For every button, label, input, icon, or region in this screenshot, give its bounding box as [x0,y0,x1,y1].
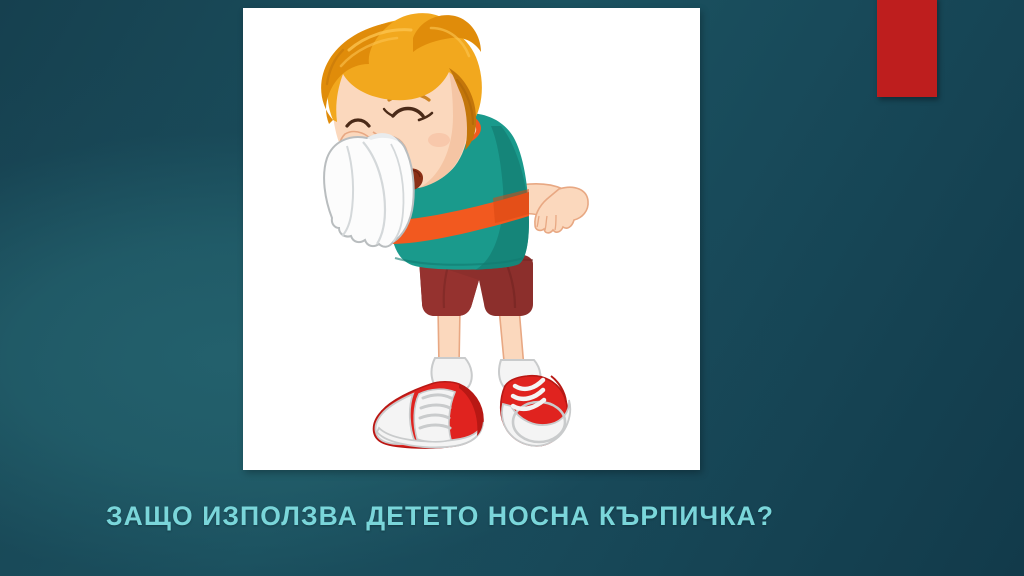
accent-rectangle [877,0,937,97]
image-panel [243,8,700,470]
presentation-slide: ЗАЩО ИЗПОЛЗВА ДЕТЕТО НОСНА КЪРПИЧКА? [0,0,1024,576]
shoes-group [374,358,571,448]
boy-blowing-nose-illustration [243,8,700,470]
tissue-hand-group [324,132,414,247]
slide-title-block: ЗАЩО ИЗПОЛЗВА ДЕТЕТО НОСНА КЪРПИЧКА? [60,494,820,538]
slide-title: ЗАЩО ИЗПОЛЗВА ДЕТЕТО НОСНА КЪРПИЧКА? [106,501,774,532]
